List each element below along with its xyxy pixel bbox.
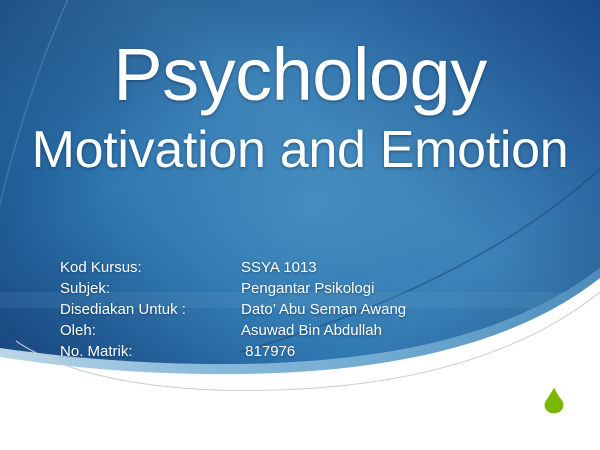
detail-value: Dato’ Abu Seman Awang (241, 299, 406, 320)
detail-label: Kod Kursus: (60, 257, 241, 278)
course-details-list: Kod Kursus:SSYA 1013 Subjek:Pengantar Ps… (35, 236, 406, 341)
detail-value: Asuwad Bin Abdullah (241, 320, 382, 341)
detail-label: No. Matrik: (60, 341, 241, 362)
presentation-title-slide: Psychology Motivation and Emotion Kod Ku… (0, 0, 600, 450)
page-subtitle: Motivation and Emotion (0, 124, 600, 176)
detail-value: SSYA 1013 (241, 257, 317, 278)
detail-label: Disediakan Untuk : (60, 299, 241, 320)
detail-label: Oleh: (60, 320, 241, 341)
detail-value: 817976 (241, 341, 295, 362)
list-item: Kod Kursus:SSYA 1013 (35, 236, 406, 257)
detail-label: Subjek: (60, 278, 241, 299)
detail-value: Pengantar Psikologi (241, 278, 374, 299)
page-title: Psychology (0, 38, 600, 112)
droplet-icon (544, 387, 564, 414)
